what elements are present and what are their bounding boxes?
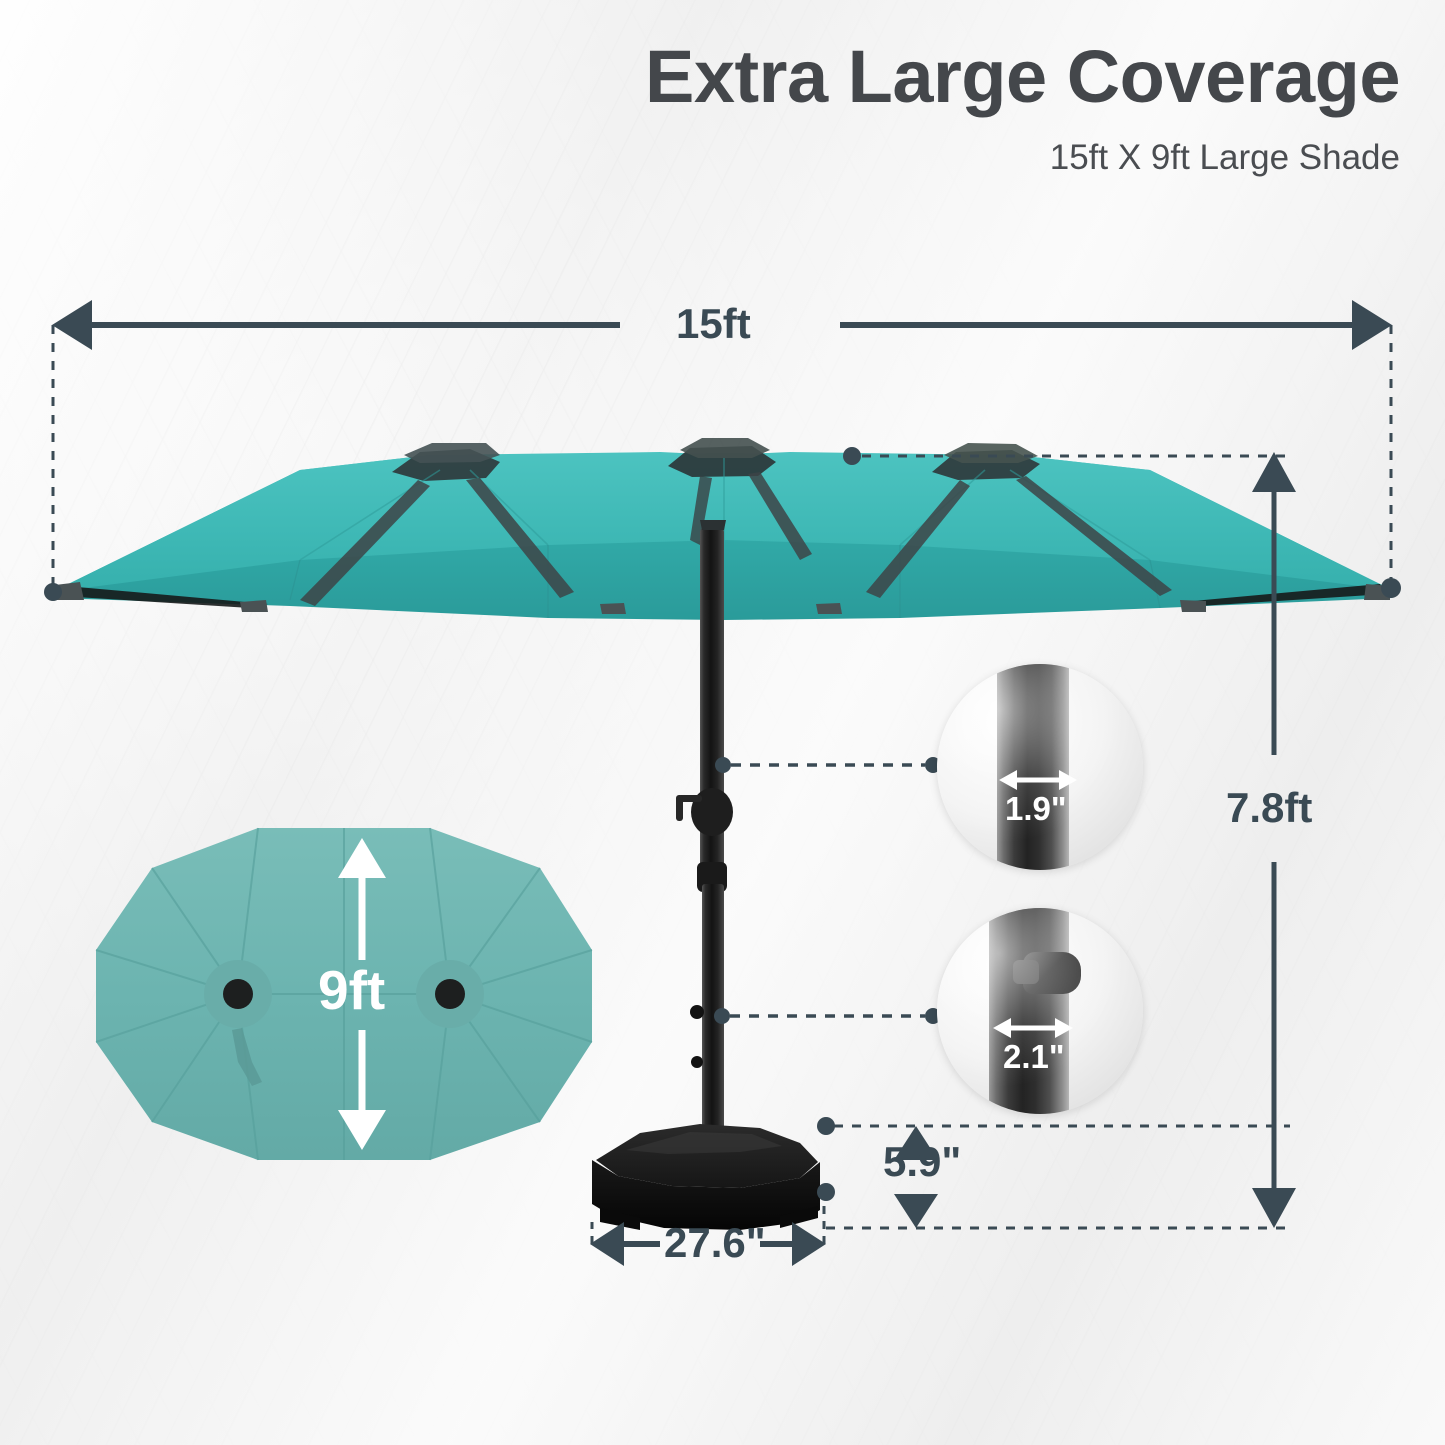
header: Extra Large Coverage 15ft X 9ft Large Sh… — [0, 40, 1400, 175]
product-dimension-infographic: Extra Large Coverage 15ft X 9ft Large Sh… — [0, 0, 1445, 1445]
dimension-label-base-height: 5.9" — [883, 1141, 961, 1183]
page-subtitle: 15ft X 9ft Large Shade — [0, 140, 1400, 175]
callout-lower-arrow — [937, 908, 1143, 1114]
callout-upper-arrow — [937, 664, 1143, 870]
pole-upper-diameter-callout: 1.9" — [937, 664, 1143, 870]
callout-label-pole-lower: 2.1" — [1003, 1040, 1065, 1073]
callout-label-pole-upper: 1.9" — [1005, 792, 1067, 825]
page-title: Extra Large Coverage — [0, 40, 1400, 114]
dimension-label-width: 15ft — [676, 303, 751, 345]
dimension-label-canopy-depth: 9ft — [318, 963, 385, 1018]
dimension-label-height: 7.8ft — [1226, 787, 1312, 829]
pole-lower-diameter-callout: 2.1" — [937, 908, 1143, 1114]
dimension-label-base-width: 27.6" — [664, 1222, 766, 1264]
